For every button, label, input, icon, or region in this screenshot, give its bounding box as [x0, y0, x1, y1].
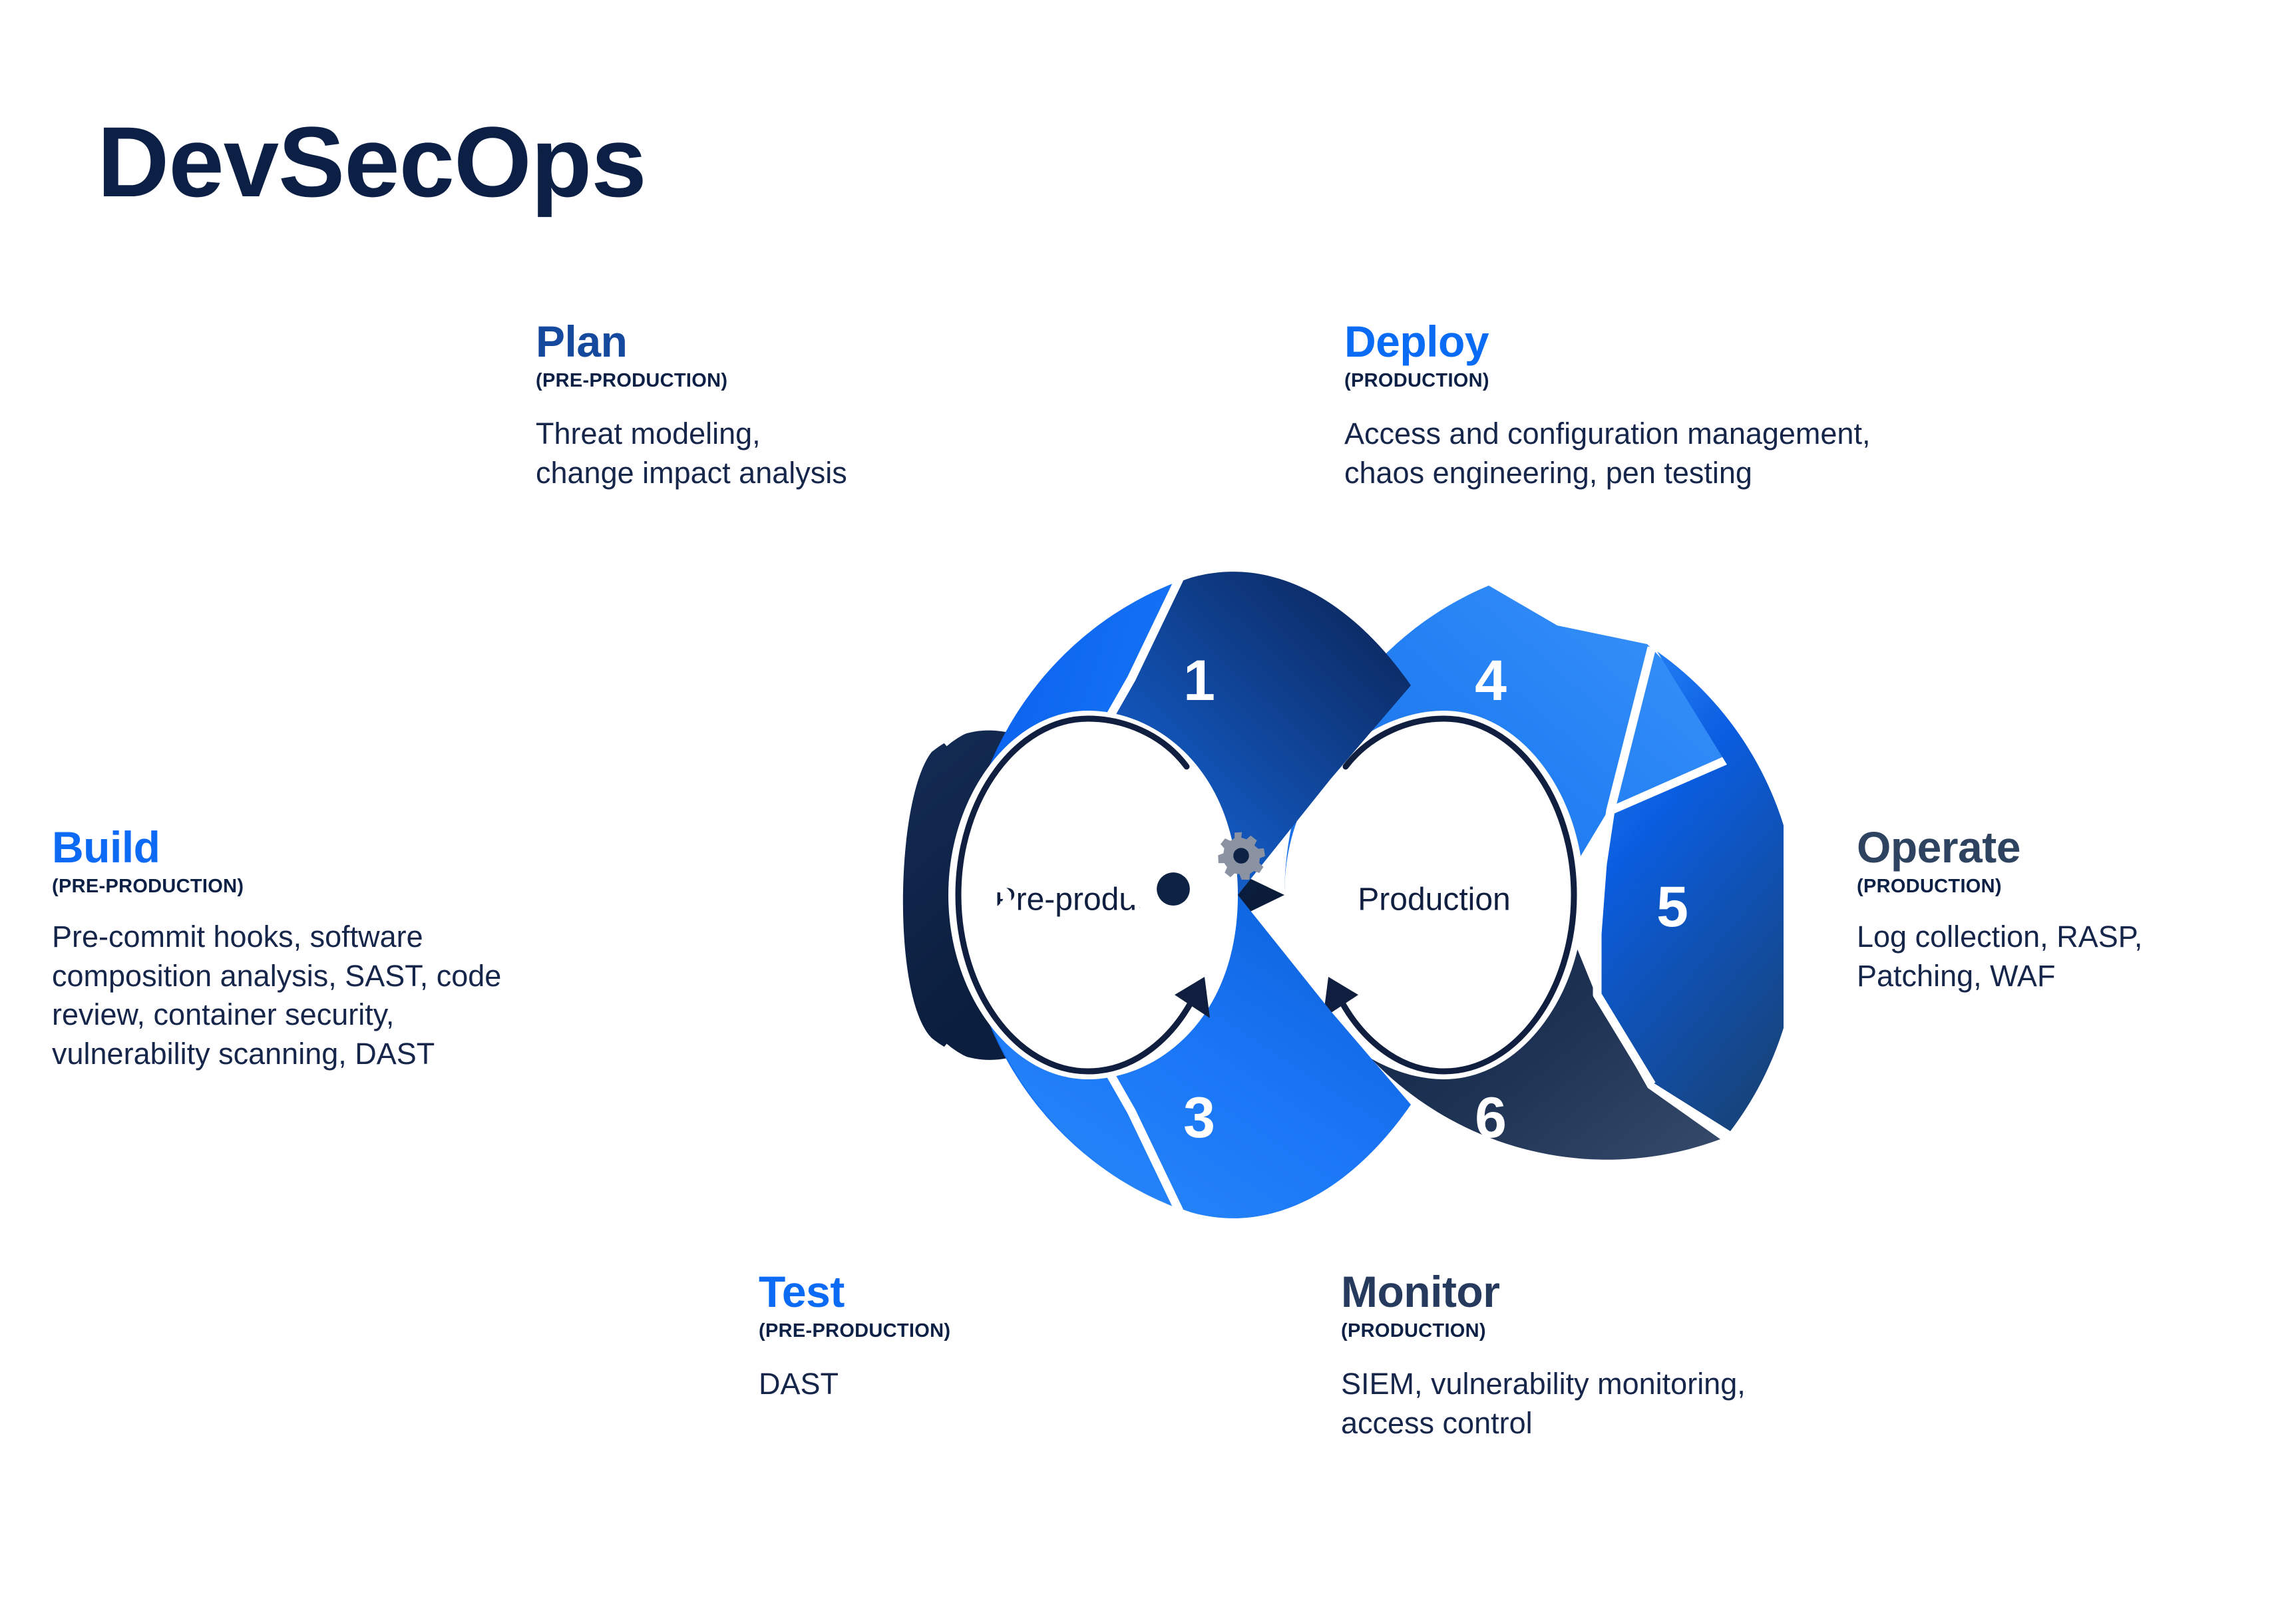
- callout-build: Build (PRE-PRODUCTION) Pre-commit hooks,…: [52, 825, 518, 1073]
- callout-build-title: Build: [52, 825, 518, 869]
- callout-monitor-desc: SIEM, vulnerability monitoring,access co…: [1341, 1365, 2073, 1443]
- callout-operate-env: (PRODUCTION): [1857, 876, 2296, 898]
- right-hub-label: Production: [1358, 882, 1510, 918]
- callout-operate: Operate (PRODUCTION) Log collection, RAS…: [1857, 825, 2296, 995]
- callout-build-desc: Pre-commit hooks, software composition a…: [52, 918, 518, 1073]
- devsecops-infinity-loop: Production 4 5 6: [466, 559, 1784, 1231]
- diagram-canvas: DevSecOps: [0, 0, 2296, 1601]
- callout-monitor-env: (PRODUCTION): [1341, 1320, 2073, 1342]
- right-segment-4-number: 4: [1475, 649, 1507, 713]
- callout-test-env: (PRE-PRODUCTION): [759, 1320, 1171, 1342]
- callout-test-desc: DAST: [759, 1365, 1171, 1404]
- left-segment-2-number: 2: [982, 875, 1014, 939]
- callout-deploy: Deploy (PRODUCTION) Access and configura…: [1344, 319, 2223, 492]
- callout-deploy-title: Deploy: [1344, 319, 2223, 363]
- left-segment-1-number: 1: [1183, 649, 1215, 713]
- callout-deploy-desc: Access and configuration management,chao…: [1344, 415, 2223, 492]
- callout-plan-desc: Threat modeling,change impact analysis: [536, 415, 1081, 492]
- left-segment-3-number: 3: [1183, 1086, 1215, 1150]
- callout-operate-title: Operate: [1857, 825, 2296, 869]
- callout-monitor: Monitor (PRODUCTION) SIEM, vulnerability…: [1341, 1270, 2073, 1443]
- callout-monitor-title: Monitor: [1341, 1270, 2073, 1314]
- callout-plan-title: Plan: [536, 319, 1081, 363]
- callout-deploy-env: (PRODUCTION): [1344, 370, 2223, 392]
- callout-plan-env: (PRE-PRODUCTION): [536, 370, 1081, 392]
- callout-operate-desc: Log collection, RASP,Patching, WAF: [1857, 918, 2296, 995]
- callout-test-title: Test: [759, 1270, 1171, 1314]
- callout-test: Test (PRE-PRODUCTION) DAST: [759, 1270, 1171, 1404]
- callout-build-env: (PRE-PRODUCTION): [52, 876, 518, 898]
- callout-plan: Plan (PRE-PRODUCTION) Threat modeling,ch…: [536, 319, 1081, 492]
- right-segment-6-number: 6: [1475, 1086, 1507, 1150]
- right-segment-5-number: 5: [1656, 875, 1688, 939]
- page-title: DevSecOps: [97, 112, 646, 212]
